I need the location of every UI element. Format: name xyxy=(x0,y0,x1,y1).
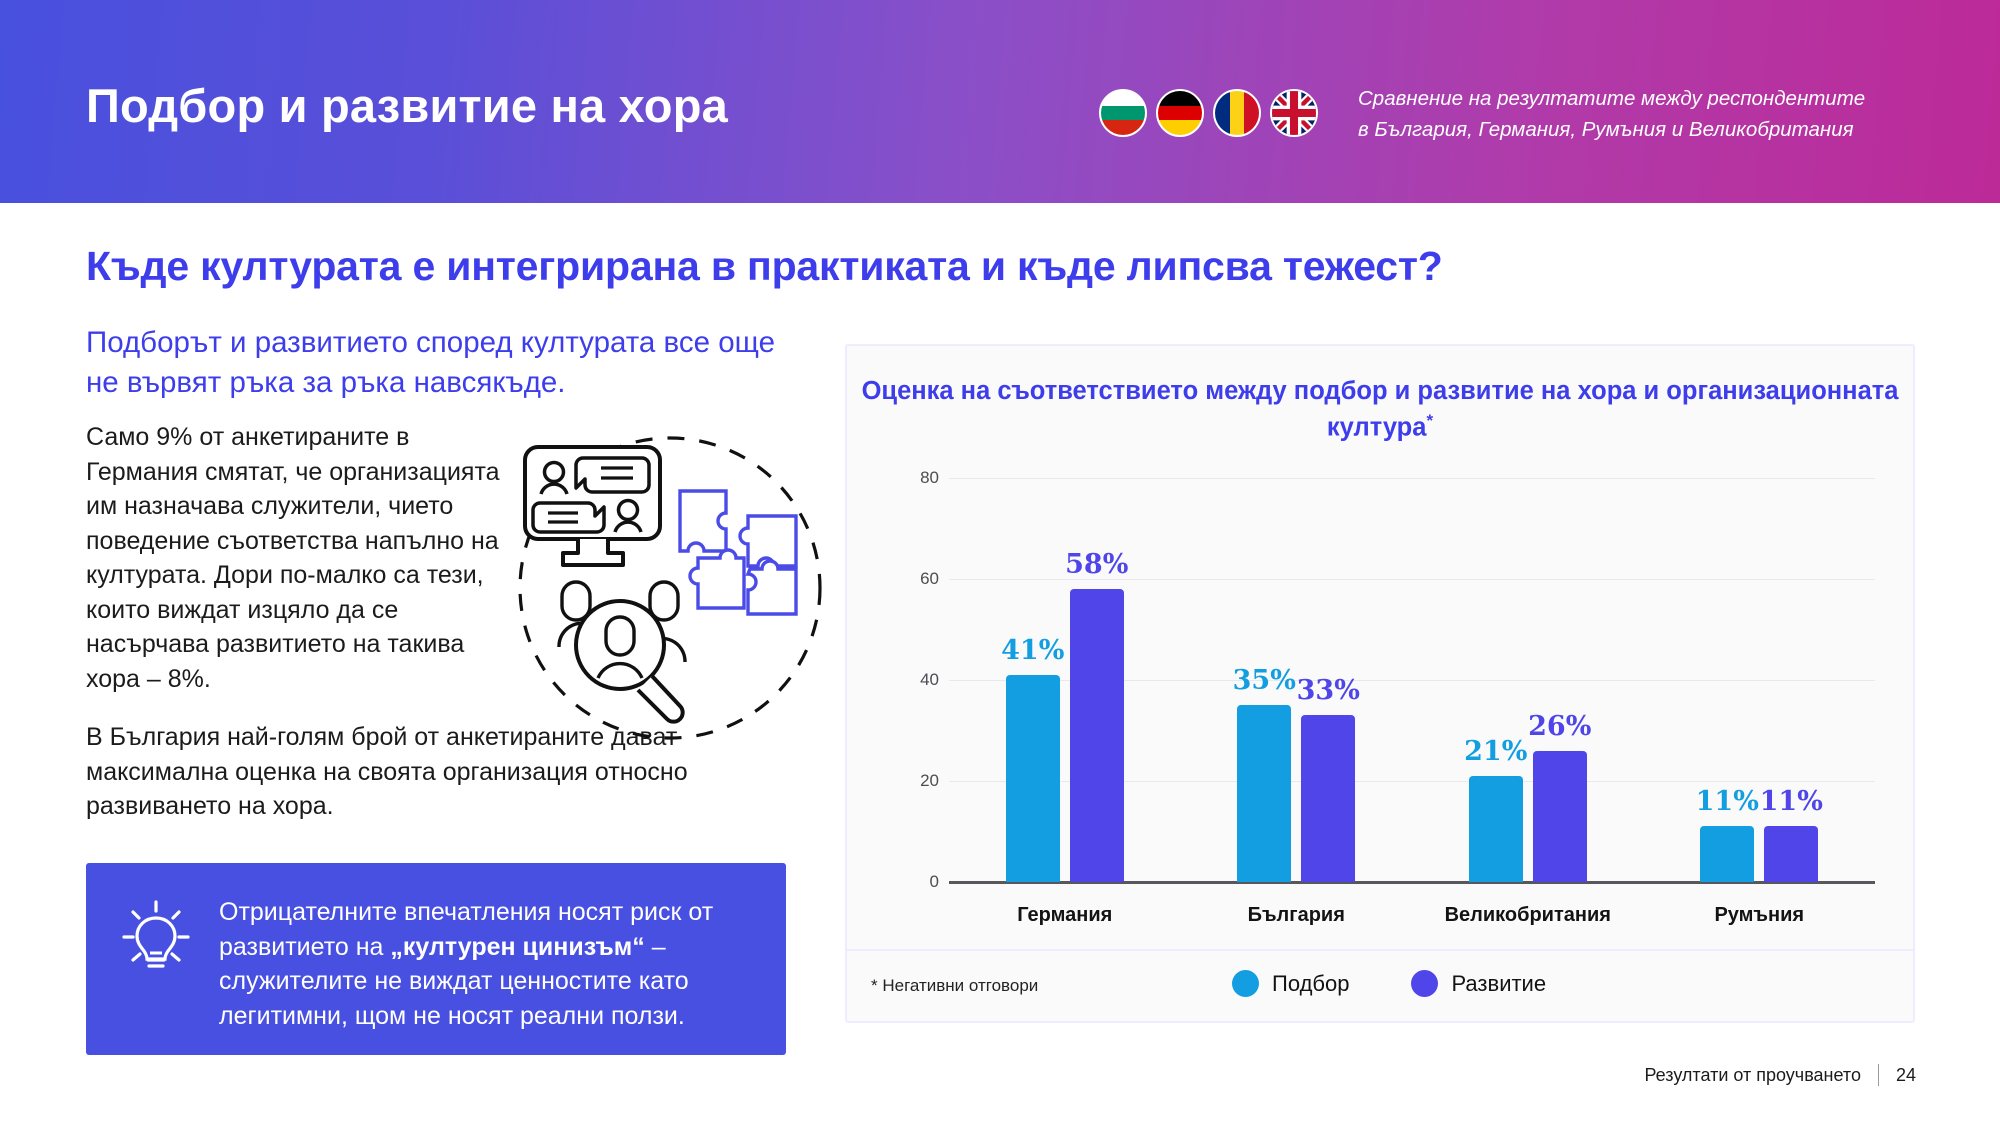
legend-item-selection[interactable]: Подбор xyxy=(1232,970,1349,997)
chart-plot-area: 02040608041%58%Германия35%33%България21%… xyxy=(907,478,1875,882)
headline: Къде културата е интегрирана в практикат… xyxy=(86,243,1443,290)
callout-box: Отрицателните впечатления носят риск от … xyxy=(86,863,786,1055)
chart-bar-value-label: 11% xyxy=(1751,786,1831,817)
chart-y-tick-label: 20 xyxy=(907,771,939,791)
chart-title-asterisk: * xyxy=(1426,411,1433,430)
chart-bar-value-label: 26% xyxy=(1520,711,1600,742)
legend-dot-selection-icon xyxy=(1232,970,1259,997)
chart-bar[interactable] xyxy=(1301,715,1355,882)
chart-gridline xyxy=(949,478,1875,479)
chart-y-tick-label: 0 xyxy=(907,872,939,892)
chart-bar-value-label: 58% xyxy=(1057,549,1137,580)
chart-bar[interactable] xyxy=(1700,826,1754,882)
chart-bar-value-label: 33% xyxy=(1288,675,1368,706)
chart-bar-value-label: 41% xyxy=(993,635,1073,666)
body-paragraph-1: Само 9% от анкетираните в Германия смята… xyxy=(86,420,506,696)
header-subtitle: Сравнение на резултатите между респонден… xyxy=(1358,84,1865,146)
callout-text-bold: „културен цинизъм“ xyxy=(390,933,644,961)
legend-item-development[interactable]: Развитие xyxy=(1411,970,1546,997)
flag-group xyxy=(1099,89,1318,137)
flag-germany-icon xyxy=(1156,89,1204,137)
flag-bulgaria-icon xyxy=(1099,89,1147,137)
slide-header: Подбор и развитие на хора xyxy=(0,0,2000,203)
chart-category-label: Великобритания xyxy=(1412,904,1644,927)
chart-category-label: Румъния xyxy=(1644,904,1876,927)
footer-divider xyxy=(1878,1064,1879,1086)
lead-paragraph: Подборът и развитието според културата в… xyxy=(86,323,786,402)
chart-category-label: Германия xyxy=(949,904,1181,927)
flag-uk-icon xyxy=(1270,89,1318,137)
chart-footer: * Негативни отговори Подбор Развитие xyxy=(847,949,1913,1021)
chart-y-tick-label: 40 xyxy=(907,670,939,690)
header-subtitle-line1: Сравнение на резултатите между респонден… xyxy=(1358,84,1865,115)
legend-label-development: Развитие xyxy=(1451,971,1546,997)
footer-page-number: 24 xyxy=(1896,1065,1916,1086)
chart-bar[interactable] xyxy=(1237,705,1291,882)
legend-label-selection: Подбор xyxy=(1272,971,1349,997)
chart-bar[interactable] xyxy=(1070,589,1124,882)
chart-bar[interactable] xyxy=(1764,826,1818,882)
chart-bar[interactable] xyxy=(1469,776,1523,882)
slide: Подбор и развитие на хора xyxy=(0,0,2000,1125)
chart-y-tick-label: 60 xyxy=(907,569,939,589)
callout-text: Отрицателните впечатления носят риск от … xyxy=(219,895,764,1033)
chart-footnote: * Негативни отговори xyxy=(871,976,1038,996)
chart-y-tick-label: 80 xyxy=(907,468,939,488)
recruitment-culture-illustration xyxy=(500,418,840,758)
lightbulb-icon xyxy=(122,899,190,971)
chart-legend: Подбор Развитие xyxy=(1232,970,1546,997)
chart-title-text: Оценка на съответствието между подбор и … xyxy=(862,377,1899,442)
chart-title: Оценка на съответствието между подбор и … xyxy=(847,374,1913,446)
page-title: Подбор и развитие на хора xyxy=(86,78,728,133)
chart-panel: Оценка на съответствието между подбор и … xyxy=(845,344,1915,1023)
header-subtitle-line2: в България, Германия, Румъния и Великобр… xyxy=(1358,115,1865,146)
chart-category-label: България xyxy=(1181,904,1413,927)
footer-label: Резултати от проучването xyxy=(1644,1065,1861,1086)
legend-dot-development-icon xyxy=(1411,970,1438,997)
chart-bar[interactable] xyxy=(1533,751,1587,882)
chart-bar[interactable] xyxy=(1006,675,1060,882)
flag-romania-icon xyxy=(1213,89,1261,137)
slide-footer: Резултати от проучването 24 xyxy=(1644,1064,1916,1086)
